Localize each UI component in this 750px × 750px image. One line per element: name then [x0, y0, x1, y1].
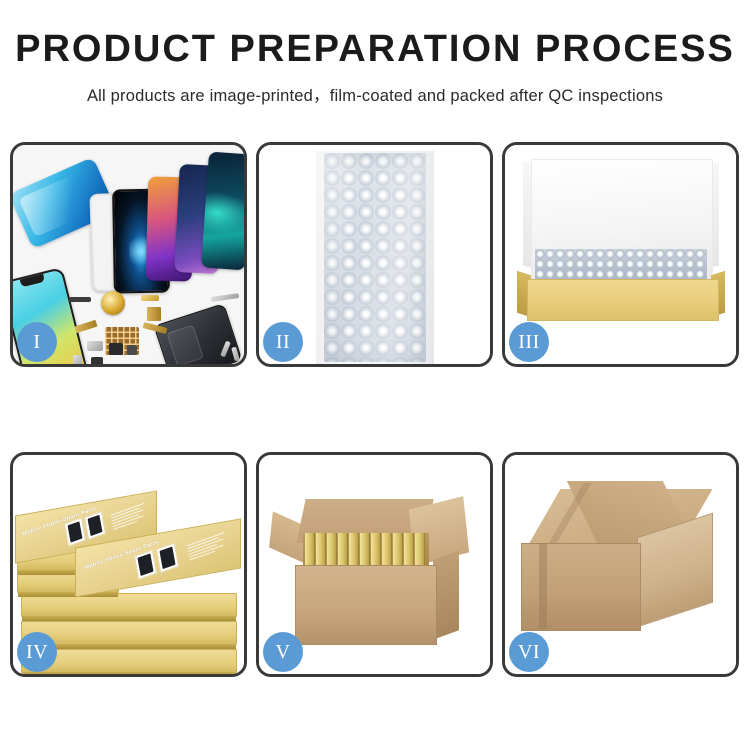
process-step-grid: I II III [10, 142, 740, 734]
small-part [211, 293, 239, 302]
process-step-panel-6: VI [502, 452, 739, 677]
step-badge-4: IV [17, 632, 57, 672]
small-part [69, 297, 91, 302]
small-part [127, 345, 137, 355]
step-badge-2: II [263, 322, 303, 362]
box-spec-lines [111, 503, 148, 532]
page-subtitle: All products are image-printed，film-coat… [0, 82, 750, 106]
small-part [147, 307, 161, 321]
small-part [87, 341, 103, 351]
process-step-panel-3: III [502, 142, 739, 367]
product-preparation-infographic: PRODUCT PREPARATION PROCESS All products… [0, 0, 750, 750]
small-part [109, 343, 123, 355]
box-product-image [156, 543, 179, 573]
box-product-image [134, 549, 157, 579]
box-kraft-front [527, 279, 719, 321]
box-product-image [84, 511, 106, 540]
gold-coil-part [101, 291, 125, 315]
plastic-sheen [316, 151, 434, 364]
page-title: PRODUCT PREPARATION PROCESS [0, 30, 750, 70]
bubble-wrap-sheet [316, 151, 434, 364]
phone-backplate [154, 303, 243, 364]
small-part [74, 320, 97, 333]
box-product-image [64, 517, 86, 546]
process-step-panel-1: I [10, 142, 247, 367]
bubble-wrapped-contents [535, 249, 707, 281]
small-part [73, 355, 82, 364]
step-badge-1: I [17, 322, 57, 362]
header: PRODUCT PREPARATION PROCESS All products… [0, 0, 750, 106]
carton-front-face [295, 565, 437, 645]
step-badge-6: VI [509, 632, 549, 672]
process-step-panel-4: Mobile Phone Spare Parts Mobile Phone Sp… [10, 452, 247, 677]
step-badge-3: III [509, 322, 549, 362]
carton-front-tape [539, 543, 547, 629]
process-step-panel-2: II [256, 142, 493, 367]
box-spec-lines [187, 532, 228, 562]
process-step-panel-5: V [256, 452, 493, 677]
small-part [91, 357, 103, 364]
step-badge-5: V [263, 632, 303, 672]
small-part [141, 295, 159, 301]
teal-wave-phone [201, 152, 244, 271]
